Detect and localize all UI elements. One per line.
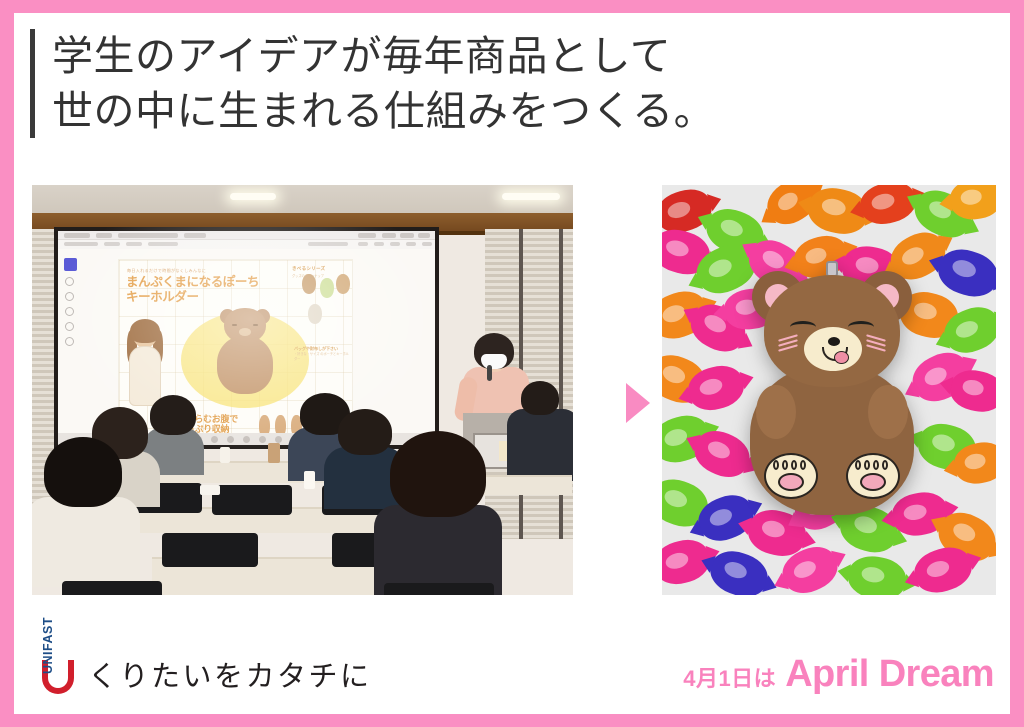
footer: UNIFAST くりたいをカタチに 4月1日は April Dream: [14, 604, 1010, 714]
app-badge-icon: [64, 258, 77, 271]
attendee-head: [44, 437, 122, 507]
attendee: [150, 395, 196, 469]
april-dream-brand: April Dream: [785, 653, 994, 696]
browser-tab-bar: [58, 231, 435, 240]
arrow-head: [626, 383, 650, 423]
bear-toes: [855, 460, 888, 470]
bear-paw-pad: [860, 473, 886, 491]
photo-bear-pouch: [662, 185, 996, 595]
ceiling: [32, 185, 573, 215]
ceiling-light: [230, 193, 276, 200]
slide-title-line-1: まんぷくまになるぽーち: [126, 275, 259, 289]
slide-bear-illustration: [215, 308, 275, 394]
slide-right-heading: きべるシリーズ: [292, 266, 348, 272]
bear-pouch-keychain: [746, 269, 918, 515]
bear-eye-left: [790, 321, 816, 333]
transition-arrow-icon: [598, 383, 650, 423]
bear-eye-right: [253, 324, 258, 326]
girl-hair: [130, 319, 160, 343]
attendee: [338, 409, 392, 501]
chair: [212, 485, 292, 515]
bear-head: [764, 275, 900, 387]
presenter-face-mask: [481, 354, 507, 369]
attendee-head: [390, 431, 486, 517]
brand-tagline: くりたいをカタチに: [88, 663, 372, 696]
attendee-body: [507, 409, 573, 481]
bear-toes: [773, 460, 806, 470]
bear-snout: [239, 328, 251, 336]
slide-charm-item: [302, 274, 316, 294]
bear-body: [217, 336, 273, 394]
attendee: [44, 437, 122, 577]
bear-arm-left: [756, 385, 796, 439]
slide-frame: 学生のアイデアが毎年商品として 世の中に生まれる仕組みをつくる。: [0, 0, 1024, 727]
slide-title-line-2: キーホルダー: [126, 290, 199, 304]
attendee-head: [150, 395, 196, 435]
arrow-shaft: [598, 396, 628, 411]
bear-foot-left: [764, 453, 818, 499]
cup: [268, 443, 280, 463]
microphone: [487, 365, 492, 381]
bear-eye-left: [232, 324, 237, 326]
sidebar-tools: [65, 277, 76, 352]
slide-right-note: バッグや財布しが下さい ・好きな・サイズ のポーチとキーホルダー: [294, 346, 350, 362]
slide-charm-item: [308, 304, 322, 324]
bear-blush-right: [866, 337, 886, 351]
slide-eyebrow: 毎日入れるだけで時間がなくしみんなに: [127, 268, 206, 274]
ceiling-light: [502, 193, 560, 200]
room-scene: 毎日入れるだけで時間がなくしみんなに まんぷくまになるぽーち キーホルダー: [32, 185, 573, 595]
chair: [384, 583, 494, 595]
brand-lockup: UNIFAST くりたいをカタチに: [38, 624, 372, 696]
slide-right-note-sub: ・好きな・サイズ のポーチとキーホルダー: [294, 352, 350, 362]
logo-wordmark: UNIFAST: [41, 617, 55, 674]
bear-foot-right: [846, 453, 900, 499]
bear-blush-left: [778, 337, 798, 351]
cup: [304, 471, 315, 489]
unifast-logo-icon: UNIFAST: [38, 624, 90, 696]
browser-menu-bar: [58, 240, 435, 249]
slide-charm-item: [320, 278, 334, 298]
photo-seminar-room: 毎日入れるだけで時間がなくしみんなに まんぷくまになるぽーち キーホルダー: [32, 185, 573, 595]
bear-paw-pad: [778, 473, 804, 491]
chair: [162, 533, 258, 567]
attendee-front-right: [507, 381, 573, 481]
attendee-body: [374, 505, 502, 595]
cup: [220, 447, 230, 463]
bear-body: [750, 365, 914, 515]
attendee-head: [521, 381, 559, 415]
attendee-body: [32, 497, 140, 587]
bear-arm-right: [868, 385, 908, 439]
slide-charm-item: [336, 274, 350, 294]
attendee-head: [338, 409, 392, 455]
cup: [200, 485, 220, 495]
bear-eye-right: [848, 321, 874, 333]
bear-nose: [828, 337, 840, 346]
candy: [845, 552, 909, 595]
april-dream-lockup: 4月1日は April Dream: [683, 653, 994, 696]
april-dream-date: 4月1日は: [683, 661, 776, 693]
attendee: [390, 431, 486, 581]
chair: [62, 581, 162, 595]
bear-tongue: [834, 351, 849, 364]
slide-title: まんぷくまになるぽーち キーホルダー: [126, 275, 259, 305]
slide-canvas: 学生のアイデアが毎年商品として 世の中に生まれる仕組みをつくる。: [14, 13, 1010, 714]
